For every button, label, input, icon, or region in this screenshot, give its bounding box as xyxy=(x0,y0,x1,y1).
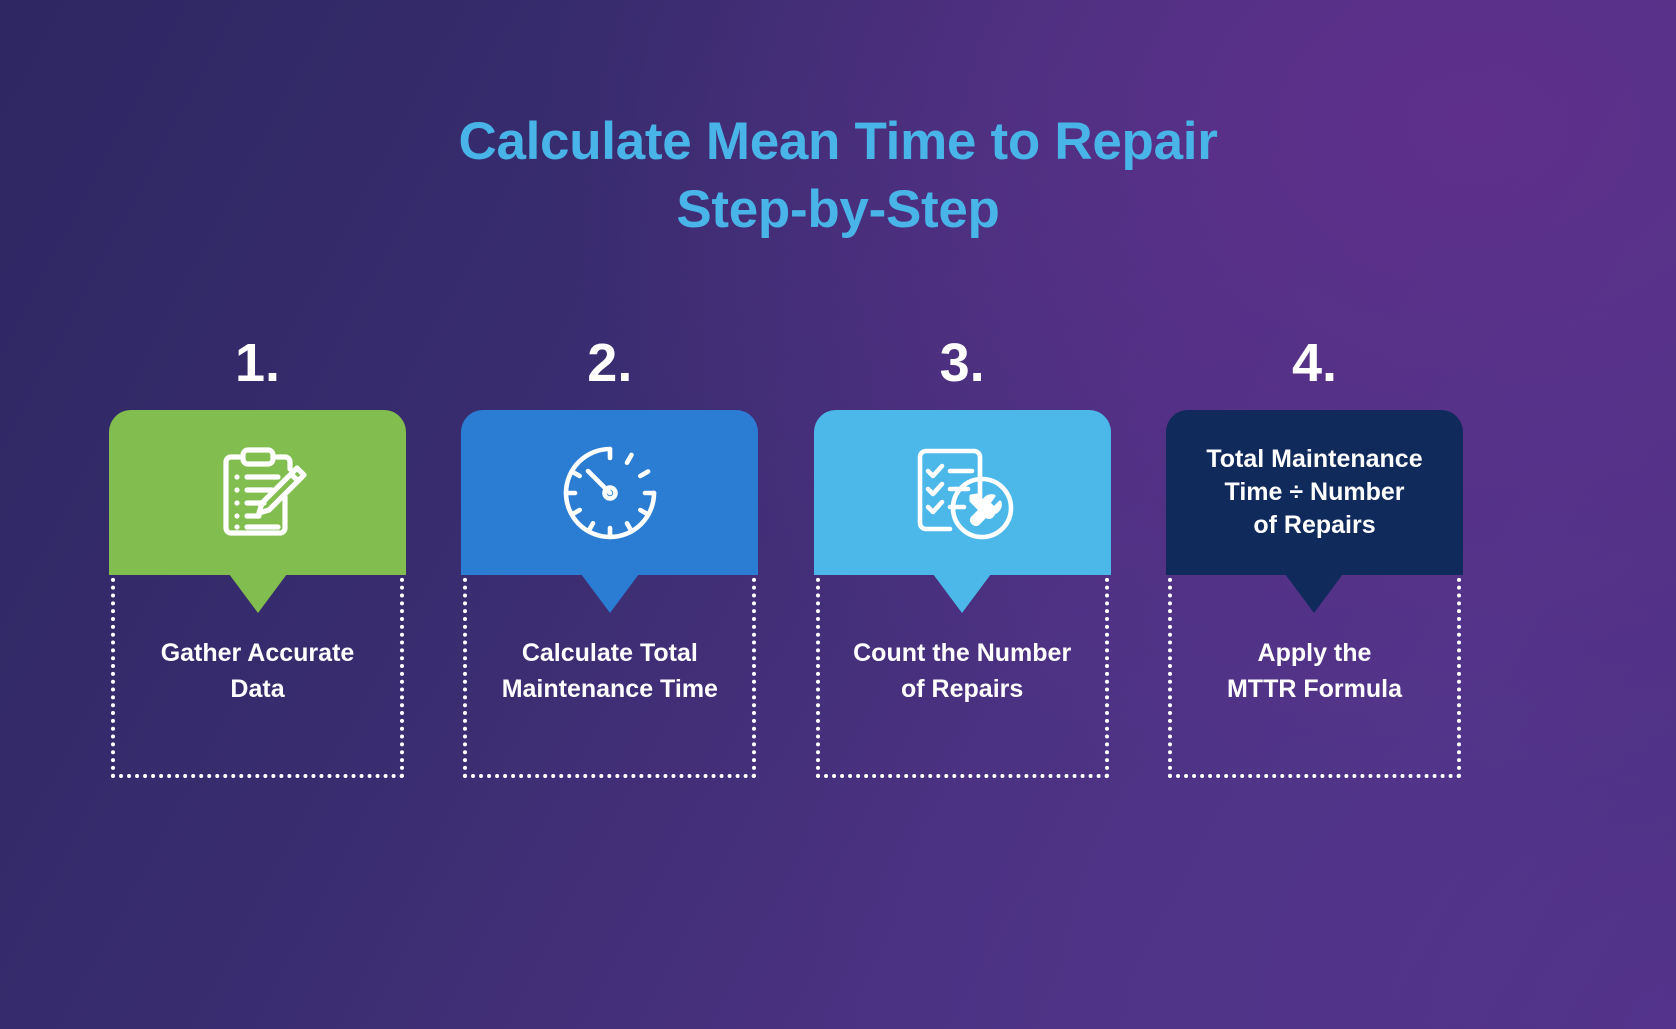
step-formula-line-3: of Repairs xyxy=(1253,511,1375,539)
step-card-1[interactable]: 1. xyxy=(105,330,410,800)
clock-icon xyxy=(557,440,663,546)
step-caption-3-line-2: of Repairs xyxy=(901,675,1023,703)
step-card-3[interactable]: 3. xyxy=(810,330,1115,800)
step-caption-2-line-2: Maintenance Time xyxy=(502,675,718,703)
step-caption-3-line-1: Count the Number xyxy=(853,639,1071,667)
step-caption-3: Count the Number of Repairs xyxy=(810,635,1115,708)
steps-row: 1. xyxy=(105,330,1467,800)
step-bubble-4: Total Maintenance Time ÷ Number of Repai… xyxy=(1166,410,1463,575)
step-bubble-tail-1 xyxy=(229,574,287,613)
step-formula-line-1: Total Maintenance xyxy=(1206,445,1422,473)
step-caption-1-line-2: Data xyxy=(230,675,284,703)
step-bubble-1 xyxy=(109,410,406,575)
title-line-2: Step-by-Step xyxy=(0,176,1676,244)
step-number-1: 1. xyxy=(105,336,410,390)
step-number-4: 4. xyxy=(1162,336,1467,390)
title-line-1: Calculate Mean Time to Repair xyxy=(0,108,1676,176)
step-bubble-tail-2 xyxy=(581,574,639,613)
step-caption-4-line-1: Apply the xyxy=(1258,639,1372,667)
page-title: Calculate Mean Time to Repair Step-by-St… xyxy=(0,108,1676,244)
step-formula-line-2: Time ÷ Number xyxy=(1225,478,1405,506)
step-card-2[interactable]: 2. xyxy=(457,330,762,800)
infographic-canvas: Calculate Mean Time to Repair Step-by-St… xyxy=(0,0,1676,1029)
checklist-tools-icon xyxy=(908,441,1016,545)
step-caption-2: Calculate Total Maintenance Time xyxy=(457,635,762,708)
step-caption-1-line-1: Gather Accurate xyxy=(161,639,355,667)
step-caption-1: Gather Accurate Data xyxy=(105,635,410,708)
step-number-2: 2. xyxy=(457,336,762,390)
step-caption-2-line-1: Calculate Total xyxy=(522,639,698,667)
clipboard-pencil-icon xyxy=(206,441,310,545)
step-bubble-3 xyxy=(814,410,1111,575)
step-bubble-tail-4 xyxy=(1285,574,1343,613)
step-number-3: 3. xyxy=(810,336,1115,390)
step-bubble-tail-3 xyxy=(933,574,991,613)
step-formula-text: Total Maintenance Time ÷ Number of Repai… xyxy=(1192,443,1436,543)
step-caption-4: Apply the MTTR Formula xyxy=(1162,635,1467,708)
step-bubble-2 xyxy=(461,410,758,575)
step-caption-4-line-2: MTTR Formula xyxy=(1227,675,1402,703)
step-card-4[interactable]: 4. Total Maintenance Time ÷ Number of Re… xyxy=(1162,330,1467,800)
